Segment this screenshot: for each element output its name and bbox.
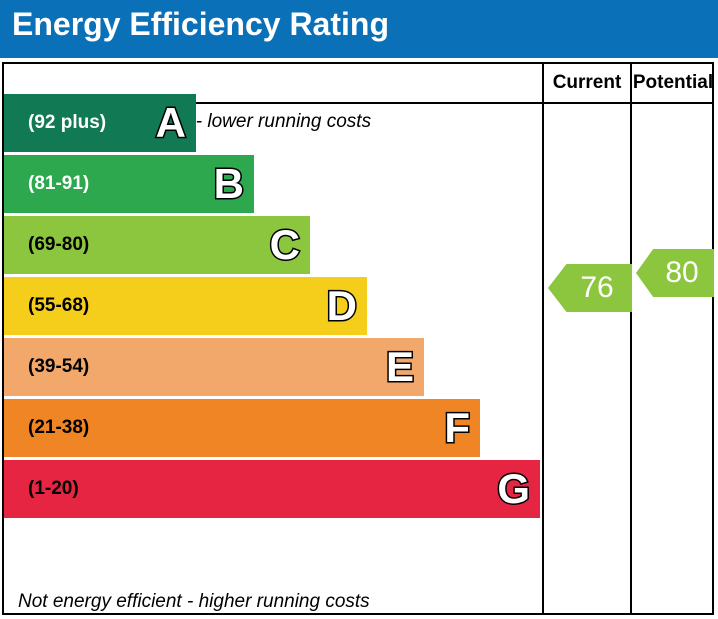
band-row-a: (92 plus) A bbox=[4, 94, 196, 152]
rating-table: Current Potential Very energy efficient … bbox=[2, 62, 714, 615]
caption-not-efficient: Not energy efficient - higher running co… bbox=[18, 591, 370, 613]
potential-rating-arrow: 80 bbox=[636, 249, 714, 297]
column-header-potential: Potential bbox=[632, 64, 714, 102]
band-letter-a: A bbox=[156, 102, 186, 144]
potential-rating-value: 80 bbox=[636, 249, 714, 297]
band-range-a: (92 plus) bbox=[28, 112, 106, 134]
column-header-current: Current bbox=[544, 64, 630, 102]
current-column-divider bbox=[542, 64, 544, 613]
page-title: Energy Efficiency Rating bbox=[12, 6, 389, 43]
band-row-c: (69-80) C bbox=[4, 216, 310, 274]
band-letter-b: B bbox=[214, 163, 244, 205]
band-range-f: (21-38) bbox=[28, 417, 89, 439]
energy-efficiency-rating-chart: Energy Efficiency Rating Current Potenti… bbox=[0, 0, 718, 619]
band-row-g: (1-20) G bbox=[4, 460, 540, 518]
band-letter-e: E bbox=[386, 346, 414, 388]
band-letter-g: G bbox=[497, 468, 530, 510]
band-range-c: (69-80) bbox=[28, 234, 89, 256]
band-range-d: (55-68) bbox=[28, 295, 89, 317]
band-row-d: (55-68) D bbox=[4, 277, 367, 335]
band-range-g: (1-20) bbox=[28, 478, 79, 500]
band-range-b: (81-91) bbox=[28, 173, 89, 195]
band-bars-container: (92 plus) A (81-91) B (69-80) C (55-68) … bbox=[4, 64, 540, 613]
chart-header-banner: Energy Efficiency Rating bbox=[0, 0, 718, 58]
potential-column-divider bbox=[630, 64, 632, 613]
band-row-f: (21-38) F bbox=[4, 399, 480, 457]
current-rating-arrow: 76 bbox=[548, 264, 632, 312]
band-row-e: (39-54) E bbox=[4, 338, 424, 396]
band-row-b: (81-91) B bbox=[4, 155, 254, 213]
band-range-e: (39-54) bbox=[28, 356, 89, 378]
band-letter-d: D bbox=[327, 285, 357, 327]
band-letter-c: C bbox=[270, 224, 300, 266]
band-letter-f: F bbox=[444, 407, 470, 449]
current-rating-value: 76 bbox=[548, 264, 632, 312]
